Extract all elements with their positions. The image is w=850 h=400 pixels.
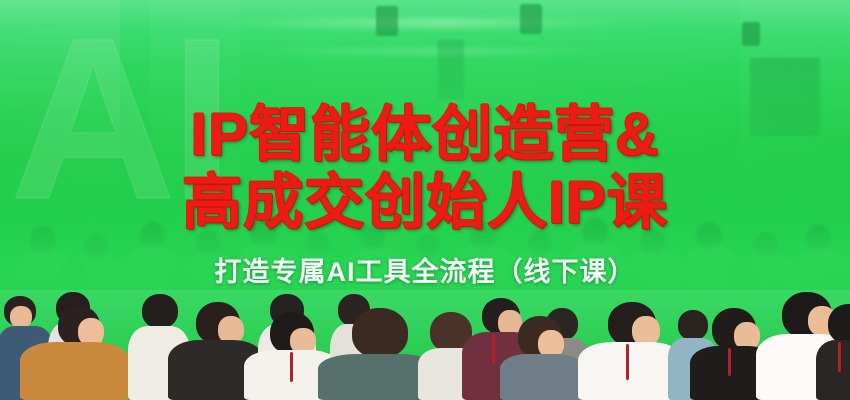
- poster-text-block: IP智能体创造营& 高成交创始人IP课 打造专属AI工具全流程（线下课）: [0, 0, 850, 310]
- audience-person: [20, 306, 130, 400]
- poster-subtitle: 打造专属AI工具全流程（线下课）: [215, 250, 636, 289]
- headline-line-2: 高成交创始人IP课: [182, 172, 668, 234]
- headline-line-1: IP智能体创造营&: [190, 104, 659, 166]
- audience-person: [500, 316, 584, 400]
- audience-photo-strip: [0, 290, 850, 400]
- event-promo-banner: AI IP智能体创造营& 高成交创始人IP课 打造专属AI工具全流程（线下课）: [0, 0, 850, 400]
- audience-person: [816, 304, 850, 400]
